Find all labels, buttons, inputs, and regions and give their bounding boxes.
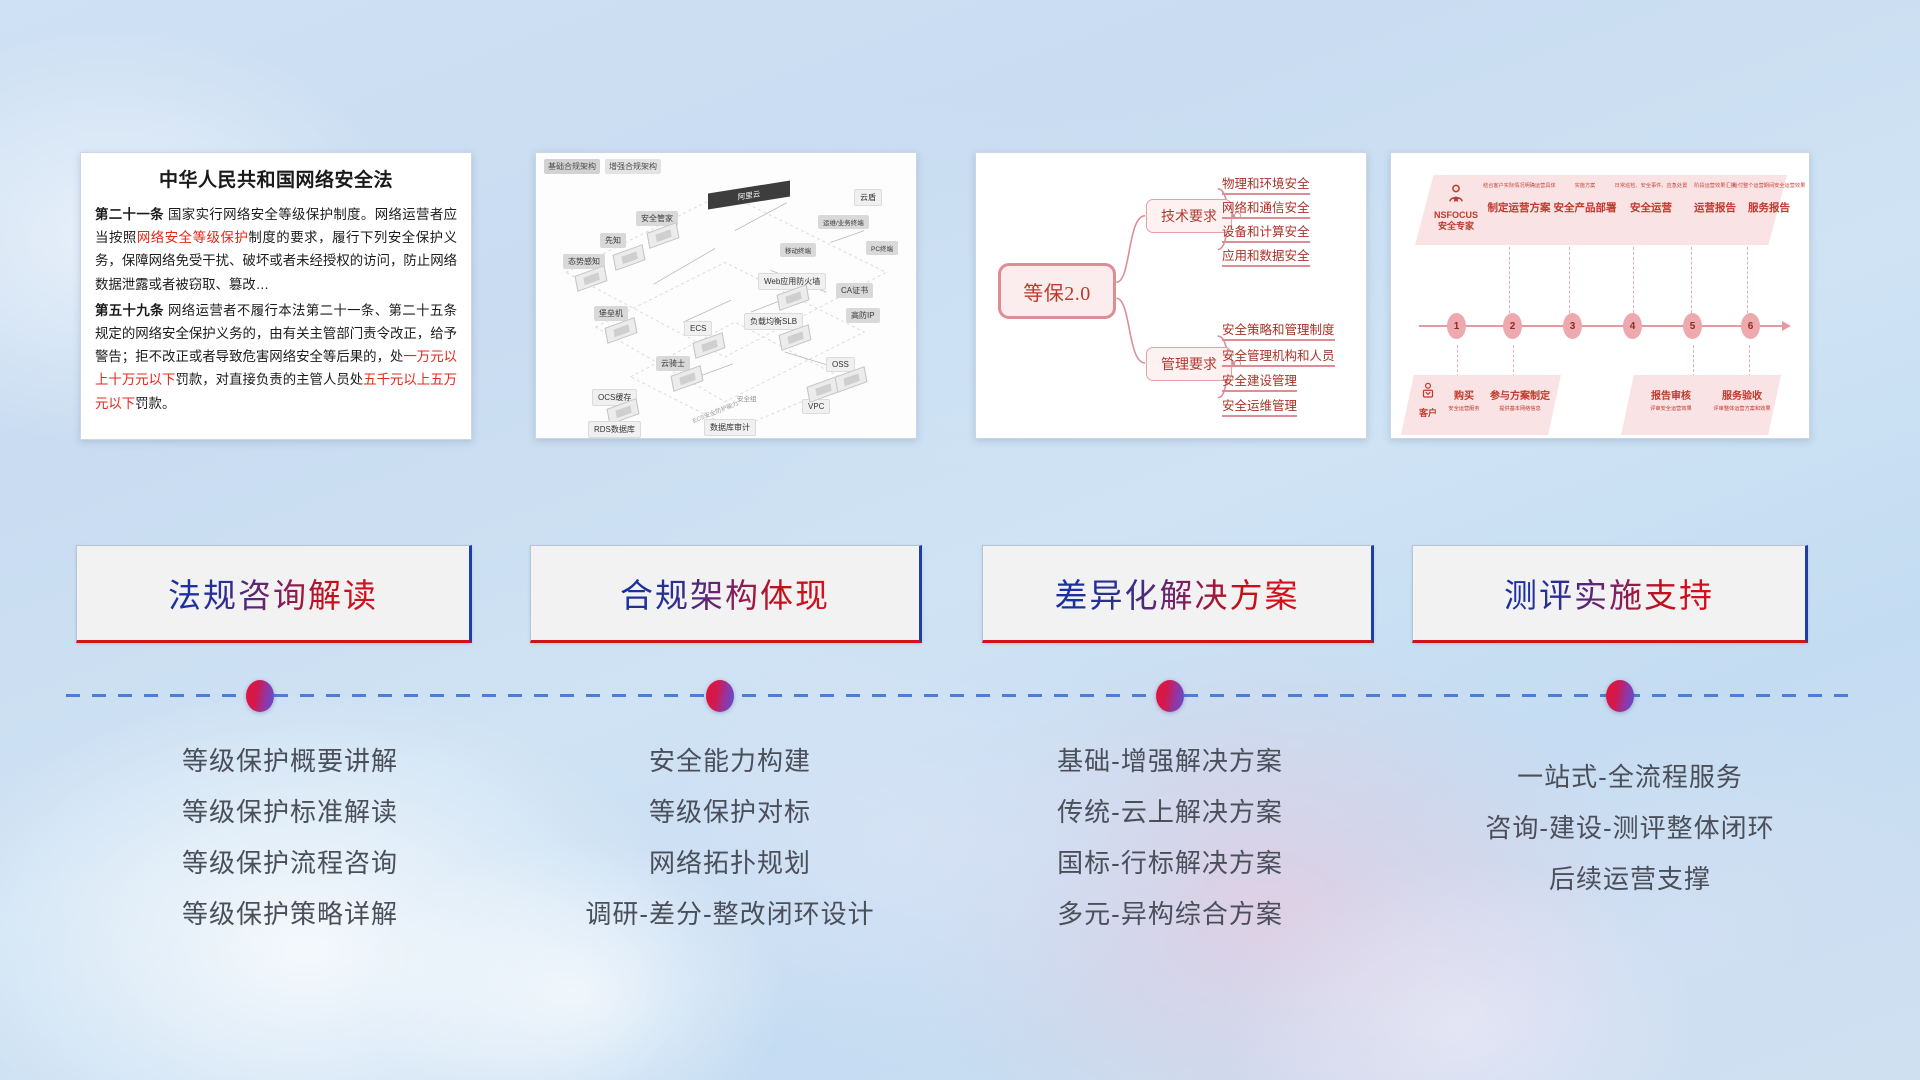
arch-node-yunqishi: 云骑士 — [656, 356, 690, 371]
mindmap-branch-technical: 技术要求 — [1146, 199, 1232, 233]
arch-node-database-audit: 数据库审计 — [704, 419, 756, 436]
mindmap-leaf: 物理和环境安全 — [1222, 173, 1310, 195]
arch-node-xianzhi: 先知 — [600, 233, 626, 248]
heading-regulation-consulting[interactable]: 法规咨询解读 — [76, 545, 472, 643]
timeline-dashed-line — [66, 694, 1856, 697]
upper-step-5: 给付整个运营期间安全运营效果 服务报告 — [1731, 183, 1807, 215]
list-item: 等级保护策略详解 — [60, 889, 520, 940]
law-title: 中华人民共和国网络安全法 — [95, 165, 457, 192]
upper-step-main: 制定运营方案 — [1483, 200, 1555, 215]
slide-stage: 中华人民共和国网络安全法 第二十一条 国家实行网络安全等级保护制度。网络运营者应… — [0, 0, 1920, 1080]
law-text-body: 中华人民共和国网络安全法 第二十一条 国家实行网络安全等级保护制度。网络运营者应… — [81, 153, 471, 423]
upper-step-1: 结合客户实际情况明确运营具体 制定运营方案 — [1483, 183, 1555, 215]
lower-step-main: 报告审核 — [1639, 387, 1703, 402]
mindmap-leaf: 应用和数据安全 — [1222, 245, 1310, 267]
arch-node-mobile-terminal: 移动终端 — [780, 243, 816, 257]
card-dengbao-mindmap: 等保2.0 技术要求 物理和环境安全 网络和通信安全 设备和计算安全 应用和数据… — [975, 152, 1367, 439]
heading-label: 法规咨询解读 — [168, 569, 378, 617]
lower-step-sub: 安全运营服务 — [1441, 405, 1487, 412]
connector-dash — [1749, 345, 1750, 377]
nsfocus-service-flow: NSFOCUS 安全专家 结合客户实际情况明确运营具体 制定运营方案 实施方案 … — [1391, 153, 1809, 438]
milestone-2: 2 — [1503, 313, 1522, 339]
list-item: 网络拓扑规划 — [520, 838, 940, 889]
timeline-axis — [1419, 325, 1783, 327]
arch-node-ecs: ECS — [684, 321, 712, 336]
mindmap-root-node: 等保2.0 — [998, 263, 1116, 319]
person-star-icon — [1445, 183, 1467, 205]
mindmap: 等保2.0 技术要求 物理和环境安全 网络和通信安全 设备和计算安全 应用和数据… — [976, 153, 1366, 438]
timeline-dot-1[interactable] — [246, 680, 274, 712]
arch-node-oss: OSS — [826, 357, 855, 372]
list-item: 安全能力构建 — [520, 736, 940, 787]
connector-dash — [1693, 345, 1694, 377]
timeline-dot-3[interactable] — [1156, 680, 1184, 712]
connector-dash — [1569, 247, 1570, 313]
arch-node-ca-certificate: CA证书 — [836, 283, 873, 298]
arch-node-vpc: VPC — [802, 399, 830, 414]
lower-step-sub: 评审整体运营方案和效果 — [1707, 405, 1777, 412]
list-item: 调研-差分-整改闭环设计 — [520, 889, 940, 940]
upper-step-main: 服务报告 — [1731, 200, 1807, 215]
heading-label: 测评实施支持 — [1504, 569, 1714, 617]
connector-dash — [1747, 247, 1748, 313]
lower-step-3: 报告审核 评审安全运营效果 — [1639, 387, 1703, 412]
architecture-diagram: 基础合规架构 增强合规架构 — [536, 153, 916, 438]
law-run: 罚款，对直接负责的主管人员处 — [175, 372, 363, 387]
connector-dash — [1513, 345, 1514, 377]
card-cybersecurity-law: 中华人民共和国网络安全法 第二十一条 国家实行网络安全等级保护制度。网络运营者应… — [80, 152, 472, 440]
mindmap-leaf: 设备和计算安全 — [1222, 221, 1310, 243]
upper-step-3: 日常巡检、安全事件、应急处置 安全运营 — [1613, 183, 1689, 215]
nsfocus-brand: NSFOCUS — [1425, 210, 1487, 221]
lower-step-main: 购买 — [1441, 387, 1487, 402]
law-article-number: 第五十九条 — [95, 303, 164, 318]
list-item: 一站式-全流程服务 — [1400, 752, 1860, 803]
list-item: 等级保护流程咨询 — [60, 838, 520, 889]
arch-node-slb: 负载均衡SLB — [744, 313, 803, 330]
heading-label: 差异化解决方案 — [1055, 569, 1300, 617]
law-article-number: 第二十一条 — [95, 207, 164, 222]
list-item: 等级保护对标 — [520, 787, 940, 838]
detail-list-regulation: 等级保护概要讲解 等级保护标准解读 等级保护流程咨询 等级保护策略详解 — [60, 736, 520, 940]
lower-step-1: 购买 安全运营服务 — [1441, 387, 1487, 412]
mindmap-leaf: 安全运维管理 — [1222, 395, 1297, 417]
heading-compliance-architecture[interactable]: 合规架构体现 — [530, 545, 922, 643]
customer-icon — [1419, 381, 1437, 401]
milestone-4: 4 — [1623, 313, 1642, 339]
heading-differentiated-solution[interactable]: 差异化解决方案 — [982, 545, 1374, 643]
mindmap-leaf: 网络和通信安全 — [1222, 197, 1310, 219]
timeline-dot-4[interactable] — [1606, 680, 1634, 712]
timeline-connector — [66, 694, 1856, 698]
heading-assessment-support[interactable]: 测评实施支持 — [1412, 545, 1808, 643]
mindmap-leaf: 安全建设管理 — [1222, 370, 1297, 392]
lower-step-main: 参与方案制定 — [1483, 387, 1557, 402]
law-run-highlight: 网络安全等级保护 — [137, 230, 249, 245]
mindmap-leaf: 安全策略和管理制度 — [1222, 319, 1335, 341]
milestone-6: 6 — [1741, 313, 1760, 339]
arch-node-ops-terminal: 运维/业务终端 — [818, 215, 869, 229]
lower-step-2: 参与方案制定 提供基本网络信息 — [1483, 387, 1557, 412]
upper-step-main: 安全运营 — [1613, 200, 1689, 215]
illustration-card-row: 中华人民共和国网络安全法 第二十一条 国家实行网络安全等级保护制度。网络运营者应… — [0, 152, 1920, 442]
list-item: 咨询-建设-测评整体闭环 — [1400, 803, 1860, 854]
detail-list-solution: 基础-增强解决方案 传统-云上解决方案 国标-行标解决方案 多元-异构综合方案 — [940, 736, 1400, 940]
mindmap-branch-management: 管理要求 — [1146, 347, 1232, 381]
upper-step-sub: 结合客户实际情况明确运营具体 — [1483, 183, 1555, 189]
mindmap-leaf: 安全管理机构和人员 — [1222, 345, 1335, 367]
upper-step-sub: 实施方案 — [1551, 183, 1619, 189]
lower-step-4: 服务验收 评审整体运营方案和效果 — [1707, 387, 1777, 412]
arch-node-yundun: 云盾 — [854, 189, 882, 206]
connector-dash — [1457, 345, 1458, 377]
list-item: 多元-异构综合方案 — [940, 889, 1400, 940]
milestone-5: 5 — [1683, 313, 1702, 339]
connector-dash — [1633, 247, 1634, 313]
milestone-1: 1 — [1447, 313, 1466, 339]
upper-step-main: 安全产品部署 — [1551, 200, 1619, 215]
lower-step-sub: 提供基本网络信息 — [1483, 405, 1557, 412]
law-paragraph: 第五十九条 网络运营者不履行本法第二十一条、第二十五条规定的网络安全保护义务的，… — [95, 299, 457, 415]
law-run: 罚款。 — [135, 396, 175, 411]
detail-list-architecture: 安全能力构建 等级保护对标 网络拓扑规划 调研-差分-整改闭环设计 — [520, 736, 940, 940]
detail-list-assessment: 一站式-全流程服务 咨询-建设-测评整体闭环 后续运营支撑 — [1400, 752, 1860, 905]
headline-row: 法规咨询解读 合规架构体现 差异化解决方案 测评实施支持 — [0, 545, 1920, 643]
connector-dash — [1691, 247, 1692, 313]
connector-dash — [1509, 247, 1510, 313]
heading-label: 合规架构体现 — [620, 569, 830, 617]
list-item: 后续运营支撑 — [1400, 854, 1860, 905]
nsfocus-role: 安全专家 — [1425, 221, 1487, 232]
milestone-3: 3 — [1563, 313, 1582, 339]
upper-step-2: 实施方案 安全产品部署 — [1551, 183, 1619, 215]
list-item: 基础-增强解决方案 — [940, 736, 1400, 787]
timeline-dot-2[interactable] — [706, 680, 734, 712]
list-item: 等级保护概要讲解 — [60, 736, 520, 787]
lower-step-sub: 评审安全运营效果 — [1639, 405, 1703, 412]
arch-node-bastion-host: 堡垒机 — [594, 306, 628, 321]
upper-step-sub: 给付整个运营期间安全运营效果 — [1731, 183, 1807, 189]
lower-step-main: 服务验收 — [1707, 387, 1777, 402]
list-item: 传统-云上解决方案 — [940, 787, 1400, 838]
arch-node-web-application-firewall: Web应用防火墙 — [758, 273, 826, 290]
law-paragraph: 第二十一条 国家实行网络安全等级保护制度。网络运营者应当按照网络安全等级保护制度… — [95, 203, 457, 296]
nsfocus-expert-badge: NSFOCUS 安全专家 — [1425, 183, 1487, 233]
arch-node-anti-ddos-ip: 高防IP — [846, 308, 880, 323]
arch-node-rds-database: RDS数据库 — [588, 421, 641, 438]
upper-step-sub: 日常巡检、安全事件、应急处置 — [1613, 183, 1689, 189]
arch-node-pc-terminal: PC终端 — [866, 241, 898, 255]
card-compliance-architecture: 基础合规架构 增强合规架构 — [535, 152, 917, 439]
list-item: 国标-行标解决方案 — [940, 838, 1400, 889]
list-item: 等级保护标准解读 — [60, 787, 520, 838]
card-nsfocus-timeline: NSFOCUS 安全专家 结合客户实际情况明确运营具体 制定运营方案 实施方案 … — [1390, 152, 1810, 439]
